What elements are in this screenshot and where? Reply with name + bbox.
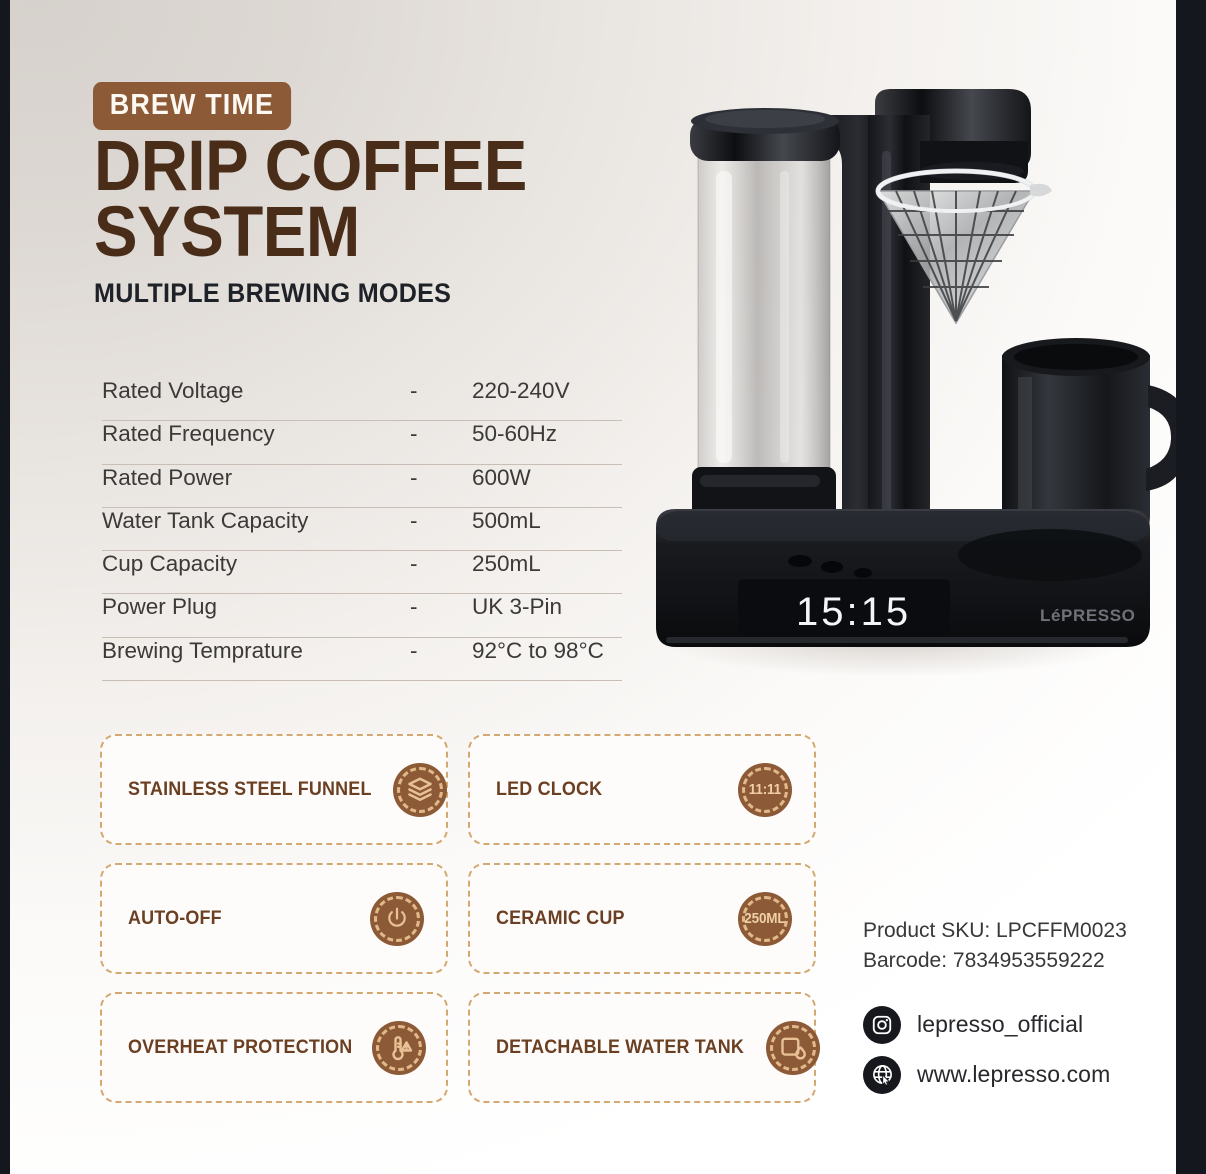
- spec-value: 250mL: [472, 551, 622, 577]
- feature-label: CERAMIC CUP: [496, 907, 625, 930]
- feature-card[interactable]: CERAMIC CUP250ML: [468, 863, 816, 974]
- led-digits-icon: 11:11: [738, 763, 792, 817]
- spec-label: Water Tank Capacity: [102, 508, 410, 534]
- spec-value: 500mL: [472, 508, 622, 534]
- spec-separator: -: [410, 508, 472, 534]
- website-url: www.lepresso.com: [917, 1061, 1110, 1088]
- brew-time-badge: BREW TIME: [93, 82, 291, 130]
- capacity-icon: 250ML: [738, 892, 792, 946]
- feature-card[interactable]: DETACHABLE WATER TANK: [468, 992, 816, 1103]
- spec-value: 92°C to 98°C: [472, 638, 622, 664]
- feature-card[interactable]: LED CLOCK11:11: [468, 734, 816, 845]
- website-globe-icon: [863, 1056, 901, 1094]
- poster-canvas: 15:15 LéPRESSO BREW TIME DRIP COFFEE SYS…: [10, 0, 1191, 1174]
- feature-card[interactable]: OVERHEAT PROTECTION: [100, 992, 448, 1103]
- social-item-instagram[interactable]: lepresso_official: [863, 1006, 1163, 1044]
- tank-droplet-icon: [766, 1021, 820, 1075]
- feature-card[interactable]: STAINLESS STEEL FUNNEL: [100, 734, 448, 845]
- led-clock-readout: 15:15: [796, 590, 911, 634]
- spec-separator: -: [410, 421, 472, 447]
- spec-separator: -: [410, 551, 472, 577]
- feature-card[interactable]: AUTO-OFF: [100, 863, 448, 974]
- spec-label: Brewing Temprature: [102, 638, 410, 664]
- feature-label: DETACHABLE WATER TANK: [496, 1036, 744, 1059]
- spec-label: Cup Capacity: [102, 551, 410, 577]
- title-line-2: SYSTEM: [94, 200, 664, 266]
- spec-value: 50-60Hz: [472, 421, 622, 447]
- feature-label: STAINLESS STEEL FUNNEL: [128, 778, 372, 801]
- spec-row: Rated Voltage-220-240V: [102, 378, 622, 421]
- feature-row: OVERHEAT PROTECTIONDETACHABLE WATER TANK: [100, 992, 816, 1103]
- icon-inner-text: 11:11: [749, 781, 781, 798]
- spec-separator: -: [410, 638, 472, 664]
- thermometer-warning-icon: [372, 1021, 426, 1075]
- spec-separator: -: [410, 378, 472, 404]
- spec-separator: -: [410, 594, 472, 620]
- instagram-icon: [863, 1006, 901, 1044]
- right-edge-bar: [1176, 0, 1191, 1174]
- spec-separator: -: [410, 465, 472, 491]
- spec-row: Power Plug-UK 3-Pin: [102, 594, 622, 637]
- specifications-table: Rated Voltage-220-240VRated Frequency-50…: [102, 378, 622, 681]
- spec-row: Cup Capacity-250mL: [102, 551, 622, 594]
- stacked-layers-icon: [393, 763, 447, 817]
- spec-value: 600W: [472, 465, 622, 491]
- spec-label: Rated Voltage: [102, 378, 410, 404]
- feature-row: STAINLESS STEEL FUNNELLED CLOCK11:11: [100, 734, 816, 845]
- lepresso-brand-mark: LéPRESSO: [1040, 606, 1136, 625]
- power-icon: [370, 892, 424, 946]
- product-sku: Product SKU: LPCFFM0023: [863, 916, 1163, 946]
- title-line-1: DRIP COFFEE: [94, 134, 664, 200]
- feature-label: AUTO-OFF: [128, 907, 222, 930]
- page-subtitle: MULTIPLE BREWING MODES: [94, 278, 671, 309]
- instagram-handle: lepresso_official: [917, 1011, 1083, 1038]
- spec-row: Rated Frequency-50-60Hz: [102, 421, 622, 464]
- spec-value: 220-240V: [472, 378, 622, 404]
- product-info-block: Product SKU: LPCFFM0023 Barcode: 7834953…: [863, 916, 1163, 1106]
- spec-row: Brewing Temprature-92°C to 98°C: [102, 638, 622, 681]
- left-edge-bar: [0, 0, 10, 1174]
- feature-label: LED CLOCK: [496, 778, 602, 801]
- spec-label: Rated Power: [102, 465, 410, 491]
- page-title: DRIP COFFEE SYSTEM MULTIPLE BREWING MODE…: [94, 134, 714, 309]
- spec-label: Rated Frequency: [102, 421, 410, 447]
- social-item-website[interactable]: www.lepresso.com: [863, 1056, 1163, 1094]
- feature-label: OVERHEAT PROTECTION: [128, 1036, 352, 1059]
- spec-label: Power Plug: [102, 594, 410, 620]
- feature-row: AUTO-OFFCERAMIC CUP250ML: [100, 863, 816, 974]
- feature-list: STAINLESS STEEL FUNNELLED CLOCK11:11AUTO…: [100, 734, 816, 1121]
- spec-row: Water Tank Capacity-500mL: [102, 508, 622, 551]
- spec-value: UK 3-Pin: [472, 594, 622, 620]
- social-links: lepresso_official www.lepresso.com: [863, 1006, 1163, 1094]
- product-barcode: Barcode: 7834953559222: [863, 946, 1163, 976]
- icon-inner-text: 250ML: [744, 910, 785, 927]
- spec-row: Rated Power-600W: [102, 465, 622, 508]
